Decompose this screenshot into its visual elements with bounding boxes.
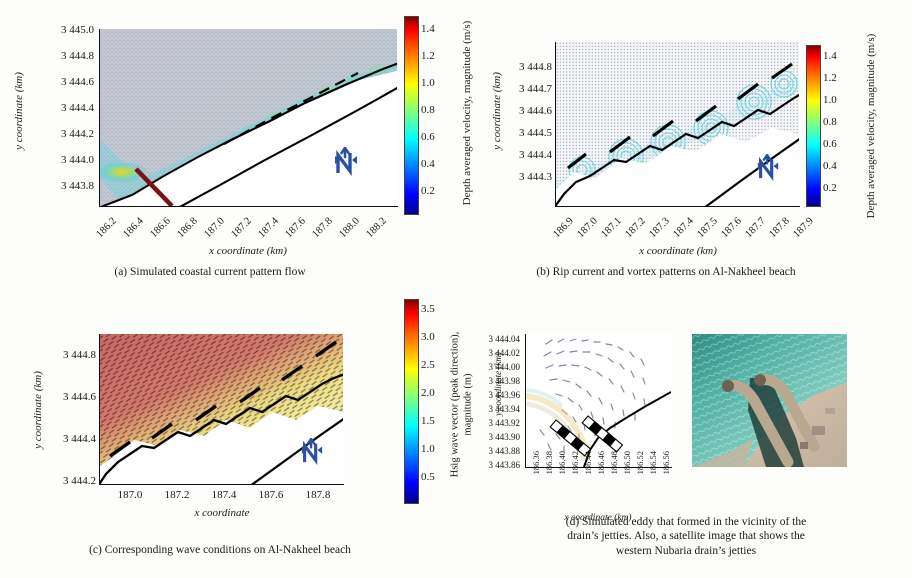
panel-c-y-axis-line: [99, 334, 100, 485]
panel-a-colorbar-tick-label: 0.4: [421, 158, 435, 170]
panel-d-ytick: 3 444.04: [466, 334, 520, 344]
panel-b-caption: (b) Rip current and vortex patterns on A…: [466, 265, 866, 279]
panel-d-xtick: 186.38: [544, 451, 554, 495]
panel-d-satellite-image: [692, 334, 847, 467]
panel-b-y-axis-line: [555, 42, 556, 207]
panel-b-colorbar-tick-label: 0.4: [823, 160, 837, 172]
panel-c-xtick: 187.8: [296, 489, 340, 501]
panel-b-ytick: 3 444.3: [492, 171, 552, 183]
panel-d-xtick: 186.46: [596, 451, 606, 495]
panel-b-north-arrow: [756, 154, 780, 187]
panel-a-ytick: 3 445.0: [34, 24, 94, 36]
panel-c-ytick: 3 444.4: [36, 433, 96, 445]
panel-d-caption: (d) Simulated eddy that formed in the vi…: [476, 515, 896, 558]
panel-d: y coordinate (km) 3 444.04 3 444.02 3 44…: [456, 289, 912, 578]
panel-a-x-axis-line: [99, 206, 398, 207]
panel-b-x-axis-title: x coordinate (km): [578, 245, 778, 257]
panel-d-ytick: 3 444.00: [466, 362, 520, 372]
panel-b-x-axis-line: [555, 206, 800, 207]
panel-b-ytick: 3 444.7: [492, 83, 552, 95]
panel-d-y-axis-line: [525, 334, 526, 468]
panel-a-colorbar-tick-label: 0.8: [421, 104, 435, 116]
panel-a-ytick: 3 444.2: [34, 128, 94, 140]
panel-a-x-axis-title: x coordinate (km): [148, 245, 348, 257]
panel-b-ytick: 3 444.6: [492, 105, 552, 117]
panel-b-colorbar-tick-label: 1.0: [823, 94, 837, 106]
panel-b-colorbar-tick-label: 0.2: [823, 182, 837, 194]
panel-c-plot-area: [100, 334, 343, 484]
panel-a-colorbar-tick-label: 0.6: [421, 131, 435, 143]
panel-a-ytick: 3 444.8: [34, 50, 94, 62]
panel-c-colorbar-tick-label: 1.5: [421, 415, 435, 427]
panel-c-colorbar-tick-label: 3.5: [421, 303, 435, 315]
panel-c-x-axis-title: x coordinate: [132, 507, 312, 519]
panel-c-colorbar-tick-label: 2.0: [421, 387, 435, 399]
north-arrow-icon: [300, 438, 324, 466]
panel-c-ytick: 3 444.8: [36, 349, 96, 361]
panel-b-colorbar: [806, 45, 821, 207]
panel-a-colorbar-tick-label: 1.0: [421, 77, 435, 89]
panel-a-y-axis-title: y coordinate (km): [13, 51, 25, 171]
panel-c-ytick: 3 444.6: [36, 391, 96, 403]
panel-a-plot-area: [100, 29, 397, 206]
panel-c-xtick: 187.2: [155, 489, 199, 501]
panel-d-xtick: 186.50: [622, 451, 632, 495]
panel-a-colorbar: [404, 16, 419, 215]
panel-b-ytick: 3 444.4: [492, 149, 552, 161]
panel-a-ytick: 3 444.6: [34, 76, 94, 88]
panel-d-xtick: 186.36: [531, 451, 541, 495]
panel-b-colorbar-tick-label: 1.4: [823, 50, 837, 62]
figure-root: y coordinate (km) 3 445.0 3 444.8 3 444.…: [0, 0, 912, 578]
panel-c-y-axis-title: y coordinate (km): [32, 350, 44, 470]
panel-c: y coordinate (km) 3 444.8 3 444.6 3 444.…: [0, 289, 456, 578]
panel-a-colorbar-tick-label: 0.2: [421, 185, 435, 197]
panel-b-plot-area: [556, 42, 799, 206]
panel-a-y-axis-line: [99, 29, 100, 207]
panel-b-colorbar-title: Depth averaged velocity, magnitude (m/s): [865, 6, 877, 246]
panel-d-xtick: 186.56: [661, 451, 671, 495]
panel-b-ytick: 3 444.5: [492, 127, 552, 139]
panel-d-xtick: 186.40: [557, 451, 567, 495]
panel-c-ytick: 3 444.2: [36, 475, 96, 487]
panel-c-colorbar: [404, 299, 419, 504]
panel-a: y coordinate (km) 3 445.0 3 444.8 3 444.…: [0, 0, 456, 289]
panel-b-colorbar-tick-label: 0.8: [823, 116, 837, 128]
panel-d-ytick: 3 443.94: [466, 404, 520, 414]
panel-c-colorbar-tick-label: 3.0: [421, 331, 435, 343]
panel-d-ytick: 3 443.88: [466, 446, 520, 456]
panel-a-colorbar-tick-label: 1.4: [421, 23, 435, 35]
panel-d-plot-svg: [526, 334, 671, 467]
panel-d-ytick: 3 444.02: [466, 348, 520, 358]
panel-a-ytick: 3 443.8: [34, 180, 94, 192]
panel-d-xtick: 186.54: [648, 451, 658, 495]
panel-b-ytick: 3 444.8: [492, 61, 552, 73]
satellite-image-svg: [692, 334, 847, 467]
panel-a-colorbar-tick-label: 1.2: [421, 50, 435, 62]
panel-d-ytick: 3 443.92: [466, 418, 520, 428]
panel-b: y coordinate (km) 3 444.8 3 444.7 3 444.…: [456, 0, 912, 289]
panel-d-plot-area: [526, 334, 671, 467]
north-arrow-icon: [756, 154, 780, 182]
panel-d-xtick: 186.42: [570, 451, 580, 495]
panel-a-ytick: 3 444.0: [34, 154, 94, 166]
panel-b-colorbar-tick-label: 0.6: [823, 138, 837, 150]
panel-c-colorbar-tick-label: 1.0: [421, 443, 435, 455]
panel-c-colorbar-tick-label: 2.5: [421, 359, 435, 371]
panel-c-xtick: 187.4: [202, 489, 246, 501]
panel-d-xtick: 186.52: [635, 451, 645, 495]
panel-d-xtick: 186.48: [609, 451, 619, 495]
panel-d-ytick: 3 443.98: [466, 376, 520, 386]
panel-c-north-arrow: [300, 438, 324, 471]
panel-d-ytick: 3 443.90: [466, 432, 520, 442]
panel-c-xtick: 187.0: [108, 489, 152, 501]
panel-c-colorbar-tick-label: 0.5: [421, 471, 435, 483]
panel-d-ytick: 3 443.86: [466, 460, 520, 470]
panel-b-colorbar-tick-label: 1.2: [823, 72, 837, 84]
panel-a-ytick: 3 444.4: [34, 102, 94, 114]
panel-c-caption: (c) Corresponding wave conditions on Al-…: [20, 543, 420, 557]
panel-a-north-arrow: [333, 147, 359, 182]
north-arrow-icon: [333, 147, 359, 177]
panel-d-xtick: 186.44: [583, 451, 593, 495]
panel-c-xtick: 187.6: [249, 489, 293, 501]
panel-d-ytick: 3 443.96: [466, 390, 520, 400]
panel-c-x-axis-line: [99, 484, 344, 485]
panel-a-caption: (a) Simulated coastal current pattern fl…: [20, 265, 400, 279]
